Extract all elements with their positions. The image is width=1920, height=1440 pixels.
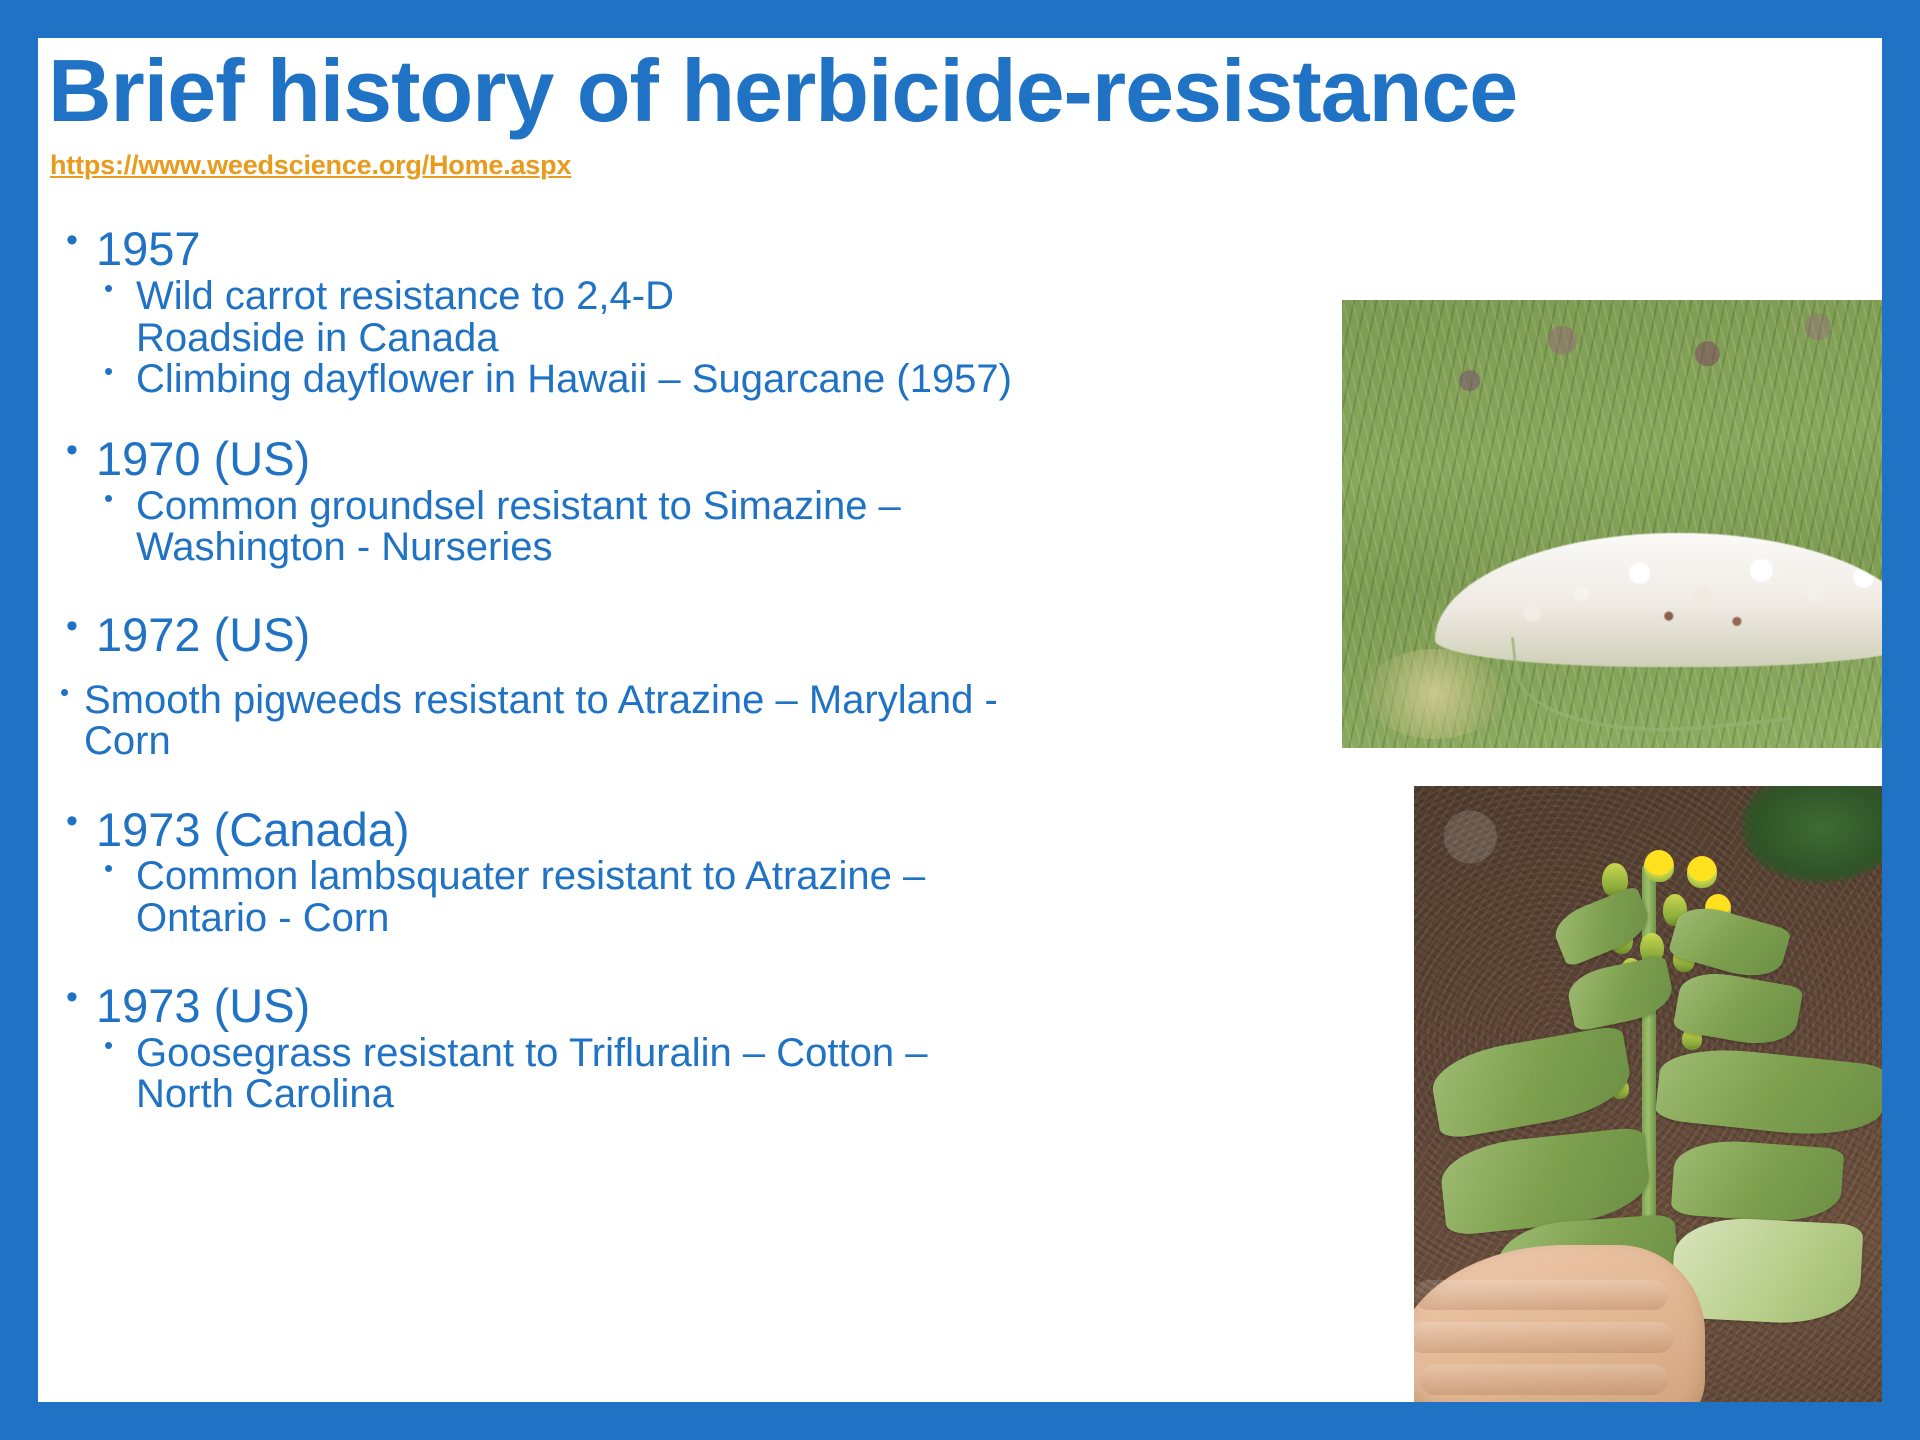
bullet-year-1973-canada: 1973 (Canada): [50, 805, 1080, 855]
slide-frame: Brief history of herbicide-resistance ht…: [0, 0, 1920, 1440]
slide-content-area: Brief history of herbicide-resistance ht…: [38, 38, 1882, 1402]
bullet-year-1970-us: 1970 (US): [50, 434, 1080, 484]
groundsel-flower: [1644, 850, 1674, 882]
source-url-link[interactable]: https://www.weedscience.org/Home.aspx: [50, 150, 571, 181]
groundsel-leaf: [1564, 955, 1677, 1033]
groundsel-leaf: [1670, 1137, 1844, 1225]
hand: [1414, 1245, 1705, 1402]
groundsel-leaf: [1549, 885, 1655, 968]
bullet-common-lambsquater-atrazine: Common lambsquater resistant to Atrazine…: [50, 856, 1080, 938]
spacer: [50, 400, 1080, 434]
bullet-climbing-dayflower: Climbing dayflower in Hawaii – Sugarcane…: [50, 359, 1080, 400]
bullet-year-1957: 1957: [50, 224, 1080, 274]
groundsel-leaf: [1427, 1025, 1636, 1141]
groundsel-photo: [1414, 786, 1882, 1402]
grass-highlight: [1365, 649, 1504, 739]
spacer: [50, 568, 1080, 610]
groundsel-flower: [1687, 856, 1717, 888]
bullet-common-groundsel-simazine: Common groundsel resistant to Simazine –…: [50, 486, 1080, 568]
bullet-year-1973-us: 1973 (US): [50, 981, 1080, 1031]
bullet-smooth-pigweeds-atrazine: Smooth pigweeds resistant to Atrazine – …: [50, 680, 1080, 762]
background-shrub: [1743, 786, 1882, 882]
bullet-wild-carrot-24d: Wild carrot resistance to 2,4-D: [50, 276, 1080, 317]
page-title: Brief history of herbicide-resistance: [48, 46, 1848, 136]
bullet-goosegrass-trifluralin: Goosegrass resistant to Trifluralin – Co…: [50, 1033, 1080, 1115]
bullet-wild-carrot-24d-cont: Roadside in Canada: [50, 317, 1080, 359]
spacer: [50, 939, 1080, 981]
spacer: [50, 763, 1080, 805]
bullet-list: 1957 Wild carrot resistance to 2,4-D Roa…: [50, 224, 1080, 1115]
groundsel-leaf: [1655, 1042, 1882, 1142]
finger: [1414, 1280, 1668, 1311]
finger: [1414, 1322, 1674, 1353]
wild-carrot-photo: [1342, 300, 1882, 748]
finger: [1420, 1364, 1668, 1395]
groundsel-leaf: [1667, 899, 1791, 985]
bullet-year-1972-us: 1972 (US): [50, 610, 1080, 660]
